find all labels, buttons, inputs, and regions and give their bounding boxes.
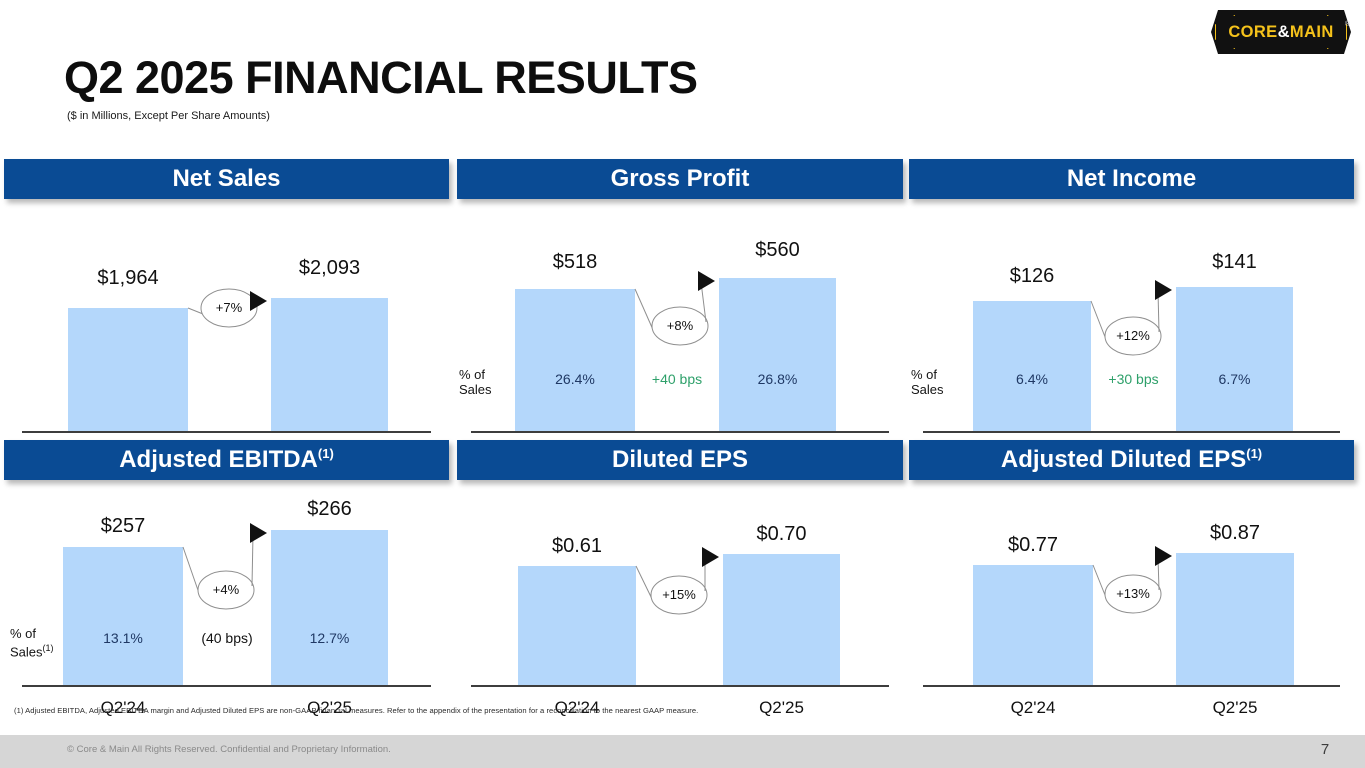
page-title: Q2 2025 FINANCIAL RESULTS: [64, 52, 697, 104]
growth-callout: +7%: [4, 199, 449, 469]
growth-callout: +8%: [457, 199, 903, 469]
growth-callout: +13%: [909, 480, 1354, 720]
metric-panel: Net Income% ofSales$1266.4%$1416.7%+30 b…: [909, 159, 1354, 469]
arrow-icon: [1155, 280, 1172, 300]
growth-percent-label: +15%: [651, 587, 707, 602]
callout-graphics: [4, 199, 449, 469]
metric-panel: Adjusted EBITDA(1)% ofSales(1)$25713.1%$…: [4, 440, 449, 720]
footnote: (1) Adjusted EBITDA, Adjusted EBITDA mar…: [14, 706, 698, 715]
logo-ampersand: &: [1278, 23, 1290, 41]
logo-word-main: MAIN: [1290, 23, 1334, 41]
core-and-main-logo: CORE&MAIN ®: [1211, 10, 1351, 54]
bar-chart: $0.61$0.70Q2'24Q2'25+15%: [457, 480, 903, 720]
metric-panel: Adjusted Diluted EPS(1)$0.77$0.87Q2'24Q2…: [909, 440, 1354, 720]
bar-chart: % ofSales$1266.4%$1416.7%+30 bpsQ2'24Q2'…: [909, 199, 1354, 469]
panel-title: Net Income: [1067, 165, 1196, 192]
logo-inner: CORE&MAIN: [1216, 16, 1346, 48]
panel-title: Adjusted Diluted EPS: [1001, 446, 1246, 473]
page-number: 7: [1310, 741, 1340, 758]
growth-percent-label: +13%: [1105, 586, 1161, 601]
panel-title: Gross Profit: [611, 165, 750, 192]
slide: CORE&MAIN ® Q2 2025 FINANCIAL RESULTS ($…: [0, 0, 1365, 768]
callout-graphics: [4, 480, 449, 720]
bar-chart: % ofSales(1)$25713.1%$26612.7%(40 bps)Q2…: [4, 480, 449, 720]
growth-percent-label: +4%: [198, 582, 254, 597]
panel-header: Net Sales: [4, 159, 449, 199]
panel-title-footnote-marker: (1): [318, 446, 334, 461]
page-subtitle: ($ in Millions, Except Per Share Amounts…: [67, 110, 270, 122]
panel-title-footnote-marker: (1): [1246, 446, 1262, 461]
callout-graphics: [457, 199, 903, 469]
logo-wordmark: CORE&MAIN: [1228, 23, 1333, 42]
bar-chart: % ofSales$51826.4%$56026.8%+40 bpsQ2'24Q…: [457, 199, 903, 469]
logo-word-core: CORE: [1228, 23, 1277, 41]
growth-percent-label: +7%: [201, 300, 257, 315]
arrow-icon: [698, 271, 715, 291]
panel-title: Diluted EPS: [612, 446, 748, 473]
metric-panel: Net Sales$1,964$2,093Q2'24Q2'25+7%: [4, 159, 449, 469]
panel-header: Diluted EPS: [457, 440, 903, 480]
panel-header: Gross Profit: [457, 159, 903, 199]
panel-header: Adjusted Diluted EPS(1): [909, 440, 1354, 480]
arrow-icon: [250, 523, 267, 543]
logo-trademark-icon: ®: [1345, 21, 1350, 28]
growth-percent-label: +12%: [1105, 328, 1161, 343]
panel-header: Net Income: [909, 159, 1354, 199]
bar-chart: $0.77$0.87Q2'24Q2'25+13%: [909, 480, 1354, 720]
panel-header: Adjusted EBITDA(1): [4, 440, 449, 480]
growth-callout: +15%: [457, 480, 903, 720]
arrow-icon: [1155, 546, 1172, 566]
panel-title: Net Sales: [172, 165, 280, 192]
arrow-icon: [702, 547, 719, 567]
bar-chart: $1,964$2,093Q2'24Q2'25+7%: [4, 199, 449, 469]
panel-title: Adjusted EBITDA: [119, 446, 318, 473]
metric-panel: Gross Profit% ofSales$51826.4%$56026.8%+…: [457, 159, 903, 469]
growth-callout: +12%: [909, 199, 1354, 469]
growth-callout: +4%: [4, 480, 449, 720]
metric-panel: Diluted EPS$0.61$0.70Q2'24Q2'25+15%: [457, 440, 903, 720]
growth-percent-label: +8%: [652, 318, 708, 333]
footer-copyright: © Core & Main All Rights Reserved. Confi…: [67, 744, 391, 755]
